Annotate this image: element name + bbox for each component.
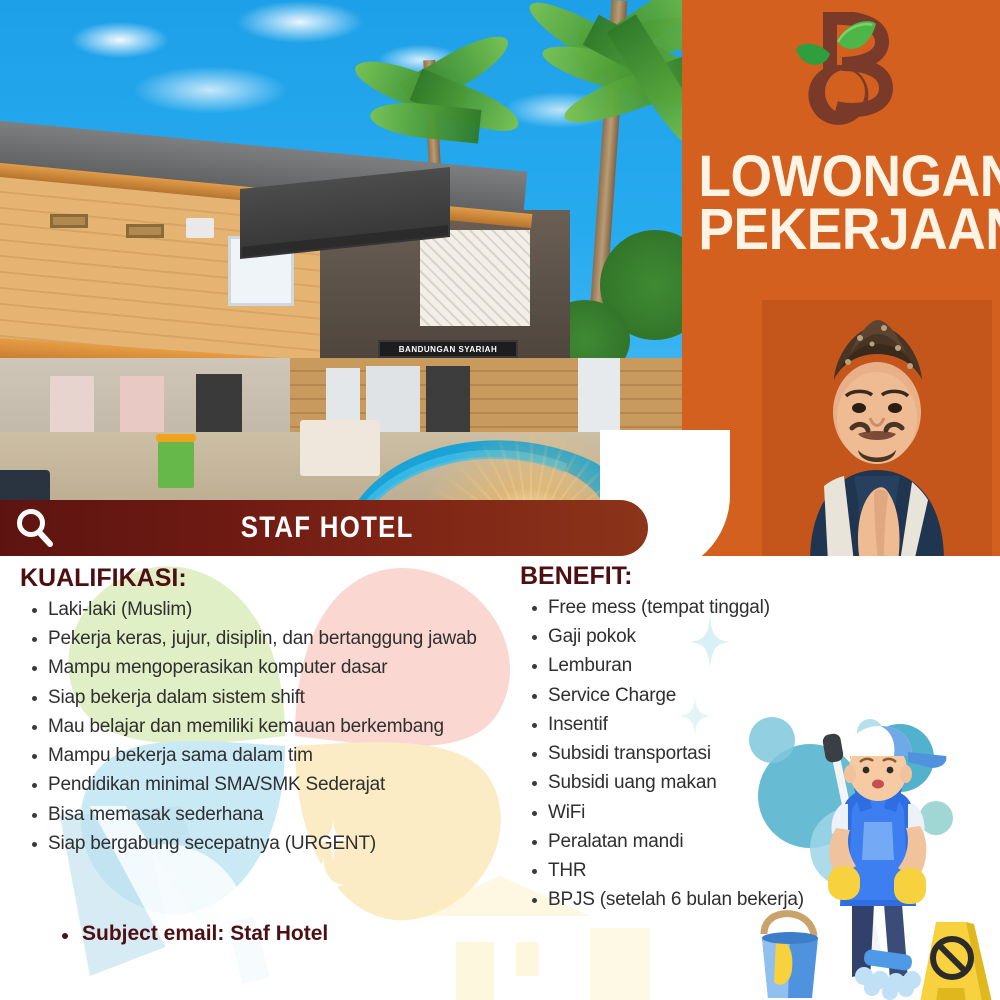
building-sign: BANDUNGAN SYARIAH [378, 340, 518, 358]
list-item: Pendidikan minimal SMA/SMK Sederajat [20, 772, 510, 798]
subject-email-line: Subject email: Staf Hotel [60, 922, 328, 946]
list-item: Siap bekerja dalam sistem shift [20, 685, 510, 711]
list-item: BPJS (setelah 6 bulan bekerja) [520, 887, 850, 913]
white-table [300, 420, 380, 476]
search-icon[interactable] [12, 505, 58, 551]
list-item: Free mess (tempat tinggal) [520, 595, 850, 621]
job-vacancy-poster: BANDUNGAN SYARIAH LOWONGAN PEKERJAAN [0, 0, 1000, 1000]
list-item: THR [520, 858, 850, 884]
trash-bin [158, 440, 194, 488]
details-section: KUALIFIKASI: Laki-laki (Muslim) Pekerja … [0, 556, 1000, 1000]
list-item: Pekerja keras, jujur, disiplin, dan bert… [20, 626, 510, 652]
qualifications-heading: KUALIFIKASI: [20, 564, 510, 593]
list-item: WiFi [520, 800, 850, 826]
list-item: Mampu mengoperasikan komputer dasar [20, 655, 510, 681]
list-item: Laki-laki (Muslim) [20, 597, 510, 623]
list-item: Insentif [520, 712, 850, 738]
list-item: Mau belajar dan memiliki kemauan berkemb… [20, 714, 510, 740]
list-item: Subsidi transportasi [520, 741, 850, 767]
position-title: STAF HOTEL [99, 511, 606, 545]
position-title-bar: STAF HOTEL [0, 500, 648, 556]
list-item: Subsidi uang makan [520, 770, 850, 796]
brand-title-line1: LOWONGAN [698, 150, 983, 203]
list-item: Service Charge [520, 683, 850, 709]
man-greeting-photo [762, 300, 992, 562]
list-item: Lemburan [520, 653, 850, 679]
list-item: Bisa memasak sederhana [20, 802, 510, 828]
qualifications-column: KUALIFIKASI: Laki-laki (Muslim) Pekerja … [20, 564, 510, 860]
hotel-photo: BANDUNGAN SYARIAH [0, 0, 682, 520]
benefits-column: BENEFIT: Free mess (tempat tinggal) Gaji… [520, 562, 850, 916]
brand-title: LOWONGAN PEKERJAAN [686, 150, 996, 257]
orange-fruit-b-logo-icon [786, 12, 906, 130]
benefits-list: Free mess (tempat tinggal) Gaji pokok Le… [520, 595, 850, 913]
qualifications-list: Laki-laki (Muslim) Pekerja keras, jujur,… [20, 597, 510, 857]
list-item: Peralatan mandi [520, 829, 850, 855]
brand-title-line2: PEKERJAAN [698, 203, 983, 256]
list-item: Mampu bekerja sama dalam tim [20, 743, 510, 769]
list-item: Gaji pokok [520, 624, 850, 650]
benefits-heading: BENEFIT: [520, 562, 850, 591]
list-item: Siap bergabung secepatnya (URGENT) [20, 831, 510, 857]
